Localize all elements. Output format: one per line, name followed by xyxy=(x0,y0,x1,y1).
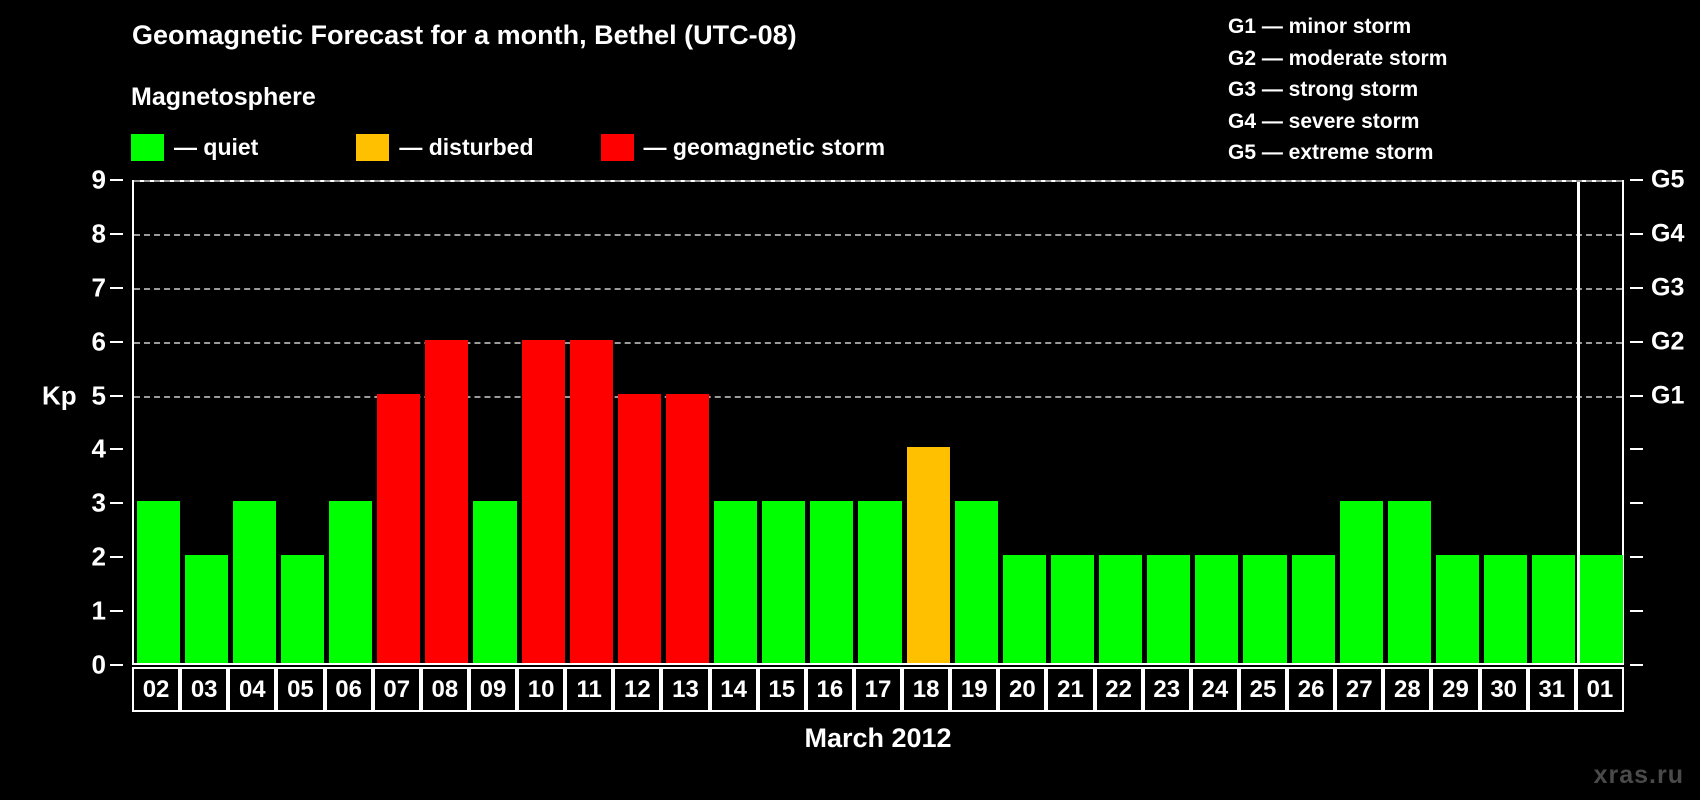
y-tick-label-9: 9 xyxy=(92,165,106,196)
y-tick-mark-9 xyxy=(110,179,123,181)
g-tick-mark-kp-2 xyxy=(1630,556,1643,558)
bar-day-07[interactable] xyxy=(377,394,420,663)
g-tick-mark-kp-9 xyxy=(1630,179,1643,181)
storm-scale-g3: G3 — strong storm xyxy=(1228,74,1447,106)
g-tick-label-G3: G3 xyxy=(1651,273,1684,302)
bar-day-18[interactable] xyxy=(907,447,950,663)
legend-label-storm: — geomagnetic storm xyxy=(644,134,886,161)
plot-area xyxy=(132,180,1624,665)
x-axis-day-labels: 0203040506070809101112131415161718192021… xyxy=(132,667,1624,712)
storm-scale-g2: G2 — moderate storm xyxy=(1228,43,1447,75)
bar-day-16[interactable] xyxy=(810,501,853,663)
y-axis-title: Kp xyxy=(42,381,77,412)
bar-day-10[interactable] xyxy=(522,340,565,663)
y-tick-mark-6 xyxy=(110,341,123,343)
bar-day-01[interactable] xyxy=(1580,555,1623,663)
legend: — quiet — disturbed — geomagnetic storm xyxy=(131,132,885,162)
magnetosphere-label: Magnetosphere xyxy=(131,83,316,112)
bar-day-21[interactable] xyxy=(1051,555,1094,663)
bar-day-20[interactable] xyxy=(1003,555,1046,663)
bar-day-24[interactable] xyxy=(1195,555,1238,663)
y-tick-label-5: 5 xyxy=(92,380,106,411)
y-tick-label-6: 6 xyxy=(92,326,106,357)
g-tick-mark-kp-0 xyxy=(1630,664,1643,666)
y-tick-mark-8 xyxy=(110,233,123,235)
day-label-28[interactable]: 28 xyxy=(1383,667,1431,712)
geomagnetic-forecast-chart: Geomagnetic Forecast for a month, Bethel… xyxy=(0,0,1700,800)
bar-day-31[interactable] xyxy=(1532,555,1575,663)
g-tick-label-G4: G4 xyxy=(1651,219,1684,248)
y-tick-mark-4 xyxy=(110,448,123,450)
y-tick-label-8: 8 xyxy=(92,218,106,249)
g-tick-mark-kp-6 xyxy=(1630,341,1643,343)
day-label-04[interactable]: 04 xyxy=(228,667,276,712)
day-label-27[interactable]: 27 xyxy=(1335,667,1383,712)
storm-scale-g4: G4 — severe storm xyxy=(1228,106,1447,138)
bar-day-28[interactable] xyxy=(1388,501,1431,663)
y-tick-mark-3 xyxy=(110,502,123,504)
watermark: xras.ru xyxy=(1594,761,1684,790)
g-tick-label-G1: G1 xyxy=(1651,381,1684,410)
y-tick-mark-2 xyxy=(110,556,123,558)
storm-scale-g1: G1 — minor storm xyxy=(1228,11,1447,43)
day-label-01[interactable]: 01 xyxy=(1576,667,1624,712)
bar-day-29[interactable] xyxy=(1436,555,1479,663)
bar-day-17[interactable] xyxy=(858,501,901,663)
legend-item-storm: — geomagnetic storm xyxy=(601,134,886,161)
green-square-icon xyxy=(131,134,164,161)
day-label-15[interactable]: 15 xyxy=(758,667,806,712)
bar-series xyxy=(134,182,1622,663)
bar-day-11[interactable] xyxy=(570,340,613,663)
bar-day-22[interactable] xyxy=(1099,555,1142,663)
day-label-24[interactable]: 24 xyxy=(1191,667,1239,712)
day-label-16[interactable]: 16 xyxy=(806,667,854,712)
y-tick-mark-0 xyxy=(110,664,123,666)
bar-day-03[interactable] xyxy=(185,555,228,663)
storm-scale-legend: G1 — minor storm G2 — moderate storm G3 … xyxy=(1228,11,1447,169)
day-label-05[interactable]: 05 xyxy=(276,667,324,712)
month-separator-line xyxy=(1577,182,1580,663)
g-axis: G1G2G3G4G5 xyxy=(1624,0,1700,800)
bar-day-05[interactable] xyxy=(281,555,324,663)
day-label-18[interactable]: 18 xyxy=(902,667,950,712)
bar-day-25[interactable] xyxy=(1243,555,1286,663)
legend-item-quiet: — quiet xyxy=(131,134,258,161)
day-label-09[interactable]: 09 xyxy=(469,667,517,712)
day-label-03[interactable]: 03 xyxy=(180,667,228,712)
g-tick-mark-kp-8 xyxy=(1630,233,1643,235)
g-tick-mark-kp-3 xyxy=(1630,502,1643,504)
g-tick-mark-kp-7 xyxy=(1630,287,1643,289)
legend-label-disturbed: — disturbed xyxy=(399,134,533,161)
bar-day-15[interactable] xyxy=(762,501,805,663)
day-label-31[interactable]: 31 xyxy=(1528,667,1576,712)
y-tick-label-0: 0 xyxy=(92,650,106,681)
day-label-12[interactable]: 12 xyxy=(613,667,661,712)
bar-day-30[interactable] xyxy=(1484,555,1527,663)
day-label-14[interactable]: 14 xyxy=(710,667,758,712)
day-label-02[interactable]: 02 xyxy=(132,667,180,712)
bar-day-04[interactable] xyxy=(233,501,276,663)
y-tick-label-1: 1 xyxy=(92,596,106,627)
storm-scale-g5: G5 — extreme storm xyxy=(1228,137,1447,169)
bar-day-13[interactable] xyxy=(666,394,709,663)
y-tick-mark-1 xyxy=(110,610,123,612)
g-tick-mark-kp-1 xyxy=(1630,610,1643,612)
day-label-17[interactable]: 17 xyxy=(854,667,902,712)
g-tick-mark-kp-5 xyxy=(1630,395,1643,397)
day-label-13[interactable]: 13 xyxy=(661,667,709,712)
orange-square-icon xyxy=(356,134,389,161)
red-square-icon xyxy=(601,134,634,161)
day-label-25[interactable]: 25 xyxy=(1239,667,1287,712)
bar-day-27[interactable] xyxy=(1340,501,1383,663)
day-label-22[interactable]: 22 xyxy=(1095,667,1143,712)
bar-day-02[interactable] xyxy=(137,501,180,663)
day-label-06[interactable]: 06 xyxy=(325,667,373,712)
day-label-29[interactable]: 29 xyxy=(1431,667,1479,712)
page-title: Geomagnetic Forecast for a month, Bethel… xyxy=(132,20,797,51)
day-label-19[interactable]: 19 xyxy=(950,667,998,712)
bar-day-23[interactable] xyxy=(1147,555,1190,663)
y-tick-label-7: 7 xyxy=(92,272,106,303)
day-label-23[interactable]: 23 xyxy=(1143,667,1191,712)
day-label-20[interactable]: 20 xyxy=(998,667,1046,712)
y-tick-label-2: 2 xyxy=(92,542,106,573)
x-axis-title: March 2012 xyxy=(132,723,1624,754)
bar-day-08[interactable] xyxy=(425,340,468,663)
g-tick-mark-kp-4 xyxy=(1630,448,1643,450)
bar-day-19[interactable] xyxy=(955,501,998,663)
legend-label-quiet: — quiet xyxy=(174,134,258,161)
bar-day-09[interactable] xyxy=(473,501,516,663)
g-tick-label-G5: G5 xyxy=(1651,166,1684,195)
day-label-08[interactable]: 08 xyxy=(421,667,469,712)
g-tick-label-G2: G2 xyxy=(1651,327,1684,356)
day-label-30[interactable]: 30 xyxy=(1480,667,1528,712)
legend-item-disturbed: — disturbed xyxy=(356,134,533,161)
bar-day-06[interactable] xyxy=(329,501,372,663)
y-tick-label-3: 3 xyxy=(92,488,106,519)
y-tick-mark-5 xyxy=(110,395,123,397)
y-tick-mark-7 xyxy=(110,287,123,289)
day-label-10[interactable]: 10 xyxy=(517,667,565,712)
bar-day-12[interactable] xyxy=(618,394,661,663)
day-label-07[interactable]: 07 xyxy=(373,667,421,712)
day-label-21[interactable]: 21 xyxy=(1046,667,1094,712)
y-tick-label-4: 4 xyxy=(92,434,106,465)
day-label-26[interactable]: 26 xyxy=(1287,667,1335,712)
day-label-11[interactable]: 11 xyxy=(565,667,613,712)
bar-day-26[interactable] xyxy=(1292,555,1335,663)
bar-day-14[interactable] xyxy=(714,501,757,663)
y-axis: Kp 0123456789 xyxy=(0,0,132,800)
